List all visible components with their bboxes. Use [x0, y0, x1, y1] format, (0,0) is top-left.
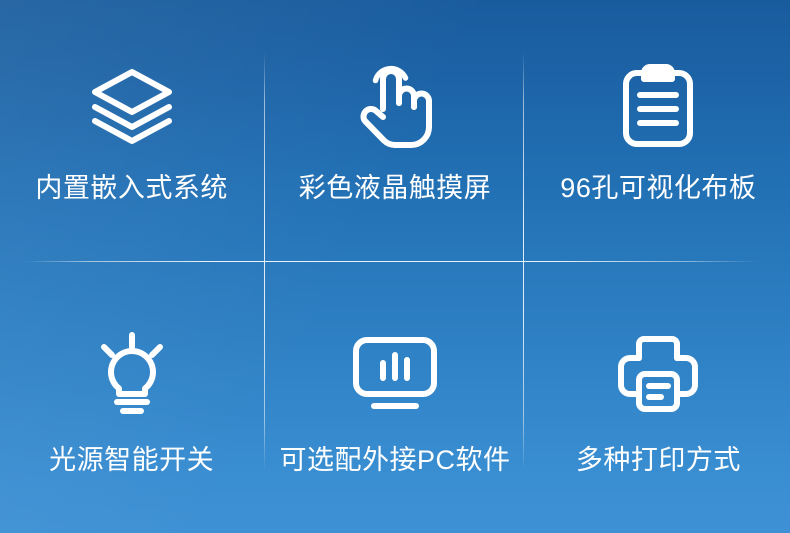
feature-label: 光源智能开关 [49, 447, 214, 474]
feature-cell-color-lcd-touchscreen[interactable]: 彩色液晶触摸屏 [263, 0, 526, 267]
feature-label: 多种打印方式 [576, 447, 741, 474]
touch-hand-icon [347, 59, 443, 153]
feature-cell-light-source-smart-switch[interactable]: 光源智能开关 [0, 267, 263, 533]
feature-label: 内置嵌入式系统 [35, 175, 228, 202]
feature-cell-optional-external-pc-software[interactable]: 可选配外接PC软件 [263, 267, 526, 533]
feature-label: 96孔可视化布板 [560, 175, 756, 202]
feature-label: 彩色液晶触摸屏 [299, 175, 492, 202]
feature-label: 可选配外接PC软件 [279, 447, 510, 474]
monitor-chart-icon [347, 327, 443, 421]
feature-cell-96-well-visual-plate[interactable]: 96孔可视化布板 [527, 0, 790, 267]
feature-banner: 内置嵌入式系统 彩色液晶触摸屏 [0, 0, 790, 533]
layers-icon [84, 59, 180, 153]
feature-grid: 内置嵌入式系统 彩色液晶触摸屏 [0, 0, 790, 533]
clipboard-icon [610, 59, 706, 153]
printer-icon [610, 327, 706, 421]
feature-cell-multiple-print-methods[interactable]: 多种打印方式 [527, 267, 790, 533]
lightbulb-icon [84, 327, 180, 421]
feature-cell-embedded-system[interactable]: 内置嵌入式系统 [0, 0, 263, 267]
